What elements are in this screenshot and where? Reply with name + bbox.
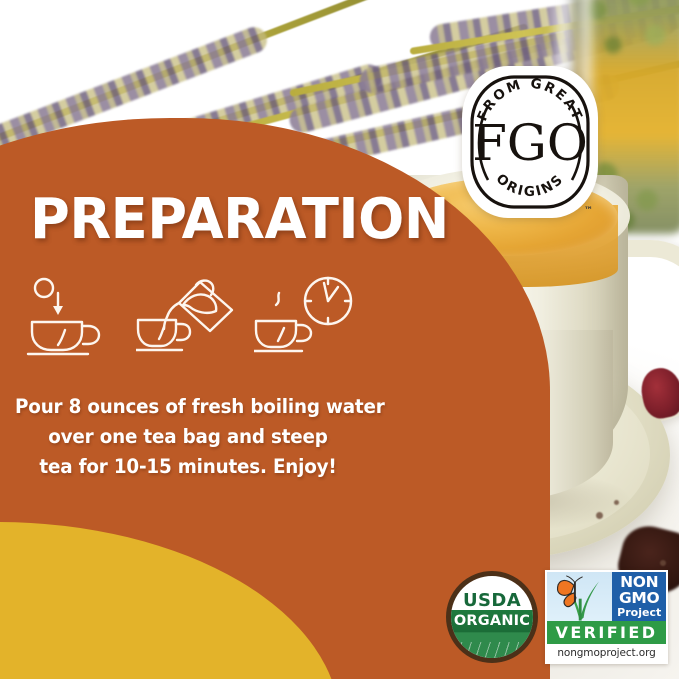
nongmo-wordmark: NON GMO Project: [612, 572, 666, 621]
nongmo-url-label: nongmoproject.org: [547, 644, 666, 662]
nongmo-verified-label: VERIFIED: [547, 621, 666, 644]
tea-bag-into-cup-icon: [136, 276, 240, 358]
botanical-crumb: [660, 560, 666, 566]
botanical-crumb: [614, 500, 619, 505]
step-add-tea-bag: [136, 276, 240, 358]
fgo-monogram: FGO: [472, 114, 588, 172]
instruction-line-2: over one tea bag and steep: [15, 422, 361, 452]
product-infographic: PREPARATION: [0, 0, 679, 679]
instruction-line-1: Pour 8 ounces of fresh boiling water: [15, 392, 361, 422]
step-pour-water: [18, 276, 122, 358]
water-drop-into-cup-icon: [18, 276, 122, 358]
non-gmo-project-seal: NON GMO Project VERIFIED nongmoproject.o…: [545, 570, 668, 664]
cup-with-clock-icon: [254, 276, 358, 358]
fgo-logo-artwork: FROM GREAT ORIGINS FGO: [462, 66, 598, 218]
preparation-steps: [18, 276, 358, 358]
fgo-trademark: ™: [584, 206, 593, 216]
botanical-crumb: [596, 512, 603, 519]
usda-field-lines: [451, 642, 533, 658]
organic-label: ORGANIC: [451, 613, 533, 629]
preparation-instructions: Pour 8 ounces of fresh boiling water ove…: [15, 392, 361, 482]
nongmo-butterfly-scene: [547, 572, 612, 621]
nongmo-upper-row: NON GMO Project: [547, 572, 666, 621]
page-title: PREPARATION: [30, 192, 449, 248]
nongmo-line-project: Project: [617, 607, 661, 618]
step-steep-timer: [254, 276, 358, 358]
usda-label: USDA: [451, 590, 533, 611]
usda-organic-seal: USDA ORGANIC: [446, 571, 538, 663]
butterfly-icon: [547, 572, 612, 621]
fgo-bottom-arc-text: ORIGINS: [493, 171, 568, 200]
nongmo-line-gmo: GMO: [619, 591, 659, 607]
instruction-line-3: tea for 10-15 minutes. Enjoy!: [15, 452, 361, 482]
fgo-logo: FROM GREAT ORIGINS FGO ™: [462, 66, 598, 218]
